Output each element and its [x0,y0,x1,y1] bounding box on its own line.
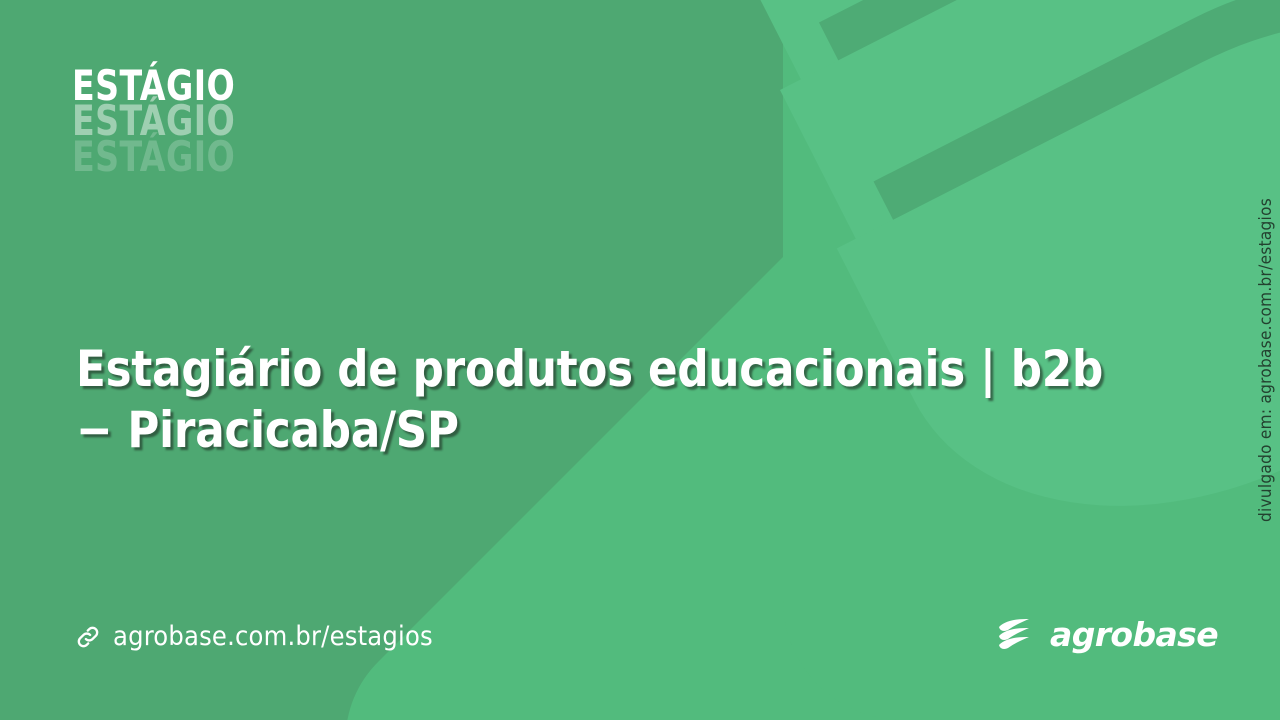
publisher-credit: divulgado em: agrobase.com.br/estagios [1256,198,1276,522]
job-vacancy-card: ESTÁGIO ESTÁGIO ESTÁGIO Estagiário de pr… [0,0,1280,720]
kicker-line-3: ESTÁGIO [72,139,235,174]
site-url[interactable]: agrobase.com.br/estagios [74,621,433,652]
site-url-text: agrobase.com.br/estagios [113,621,433,652]
card-content: ESTÁGIO ESTÁGIO ESTÁGIO Estagiário de pr… [0,0,1280,720]
agrobase-logo-mark-icon [995,618,1041,652]
link-icon [74,623,102,651]
brand-logo: agrobase [995,615,1218,654]
kicker-stack: ESTÁGIO ESTÁGIO ESTÁGIO [72,68,257,174]
job-title: Estagiário de produtos educacionais | b2… [76,339,1119,461]
brand-name-text: agrobase [1050,615,1218,654]
